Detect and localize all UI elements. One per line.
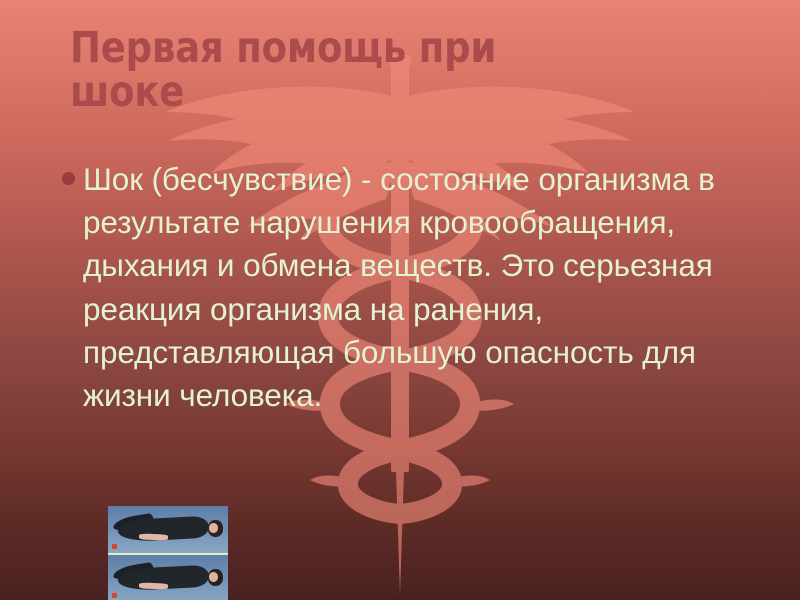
frame-label-a — [112, 544, 117, 549]
filled-circle-bullet-icon — [62, 172, 75, 185]
figure-arm — [139, 534, 168, 541]
slide-body-text: Шок (бесчувствие) - состояние организма … — [83, 158, 762, 417]
shock-position-photo — [108, 506, 228, 600]
presentation-slide: Первая помощь при шоке Шок (бесчувствие)… — [0, 0, 800, 600]
photo-frame-b — [108, 553, 228, 600]
frame-label-b — [112, 593, 117, 598]
figure-arm — [139, 583, 168, 590]
slide-title: Первая помощь при шоке — [70, 26, 620, 115]
photo-frame-a — [108, 506, 228, 553]
slide-body-block: Шок (бесчувствие) - состояние организма … — [62, 158, 762, 417]
